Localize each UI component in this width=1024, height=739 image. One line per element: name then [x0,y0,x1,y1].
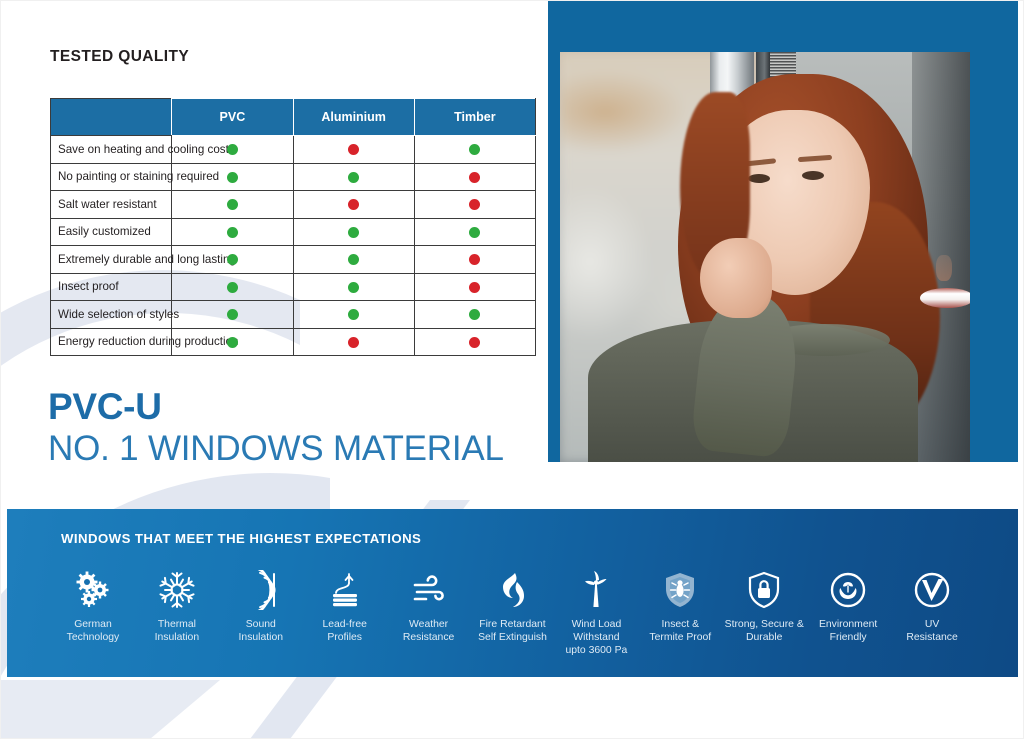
feature-caption: Sound Insulation [219,618,303,644]
page-title: TESTED QUALITY [50,48,189,66]
feature-item-8: Insect & Termite Proof [638,567,722,644]
table-header-feature [51,99,172,136]
green-dot-icon [348,172,359,183]
red-dot-icon [348,199,359,210]
feature-label: Wide selection of styles [51,301,172,329]
headline: PVC-U NO. 1 WINDOWS MATERIAL [48,388,504,466]
feature-caption: Thermal Insulation [135,618,219,644]
table-row: Insect proof [51,273,536,301]
person-smile [920,288,970,308]
feature-item-7: Wind Load Withstand upto 3600 Pa [554,567,638,657]
feature-label: Extremely durable and long lasting [51,246,172,274]
feature-item-11: UV Resistance [890,567,974,644]
table-row: No painting or staining required [51,163,536,191]
green-dot-icon [348,309,359,320]
rating-cell-timber [414,328,535,356]
feature-caption: Lead-free Profiles [303,618,387,644]
rating-cell-aluminium [293,163,414,191]
hero-photo [560,52,970,462]
green-dot-icon [227,172,238,183]
green-dot-icon [348,227,359,238]
table-body: Save on heating and cooling costsNo pain… [51,136,536,356]
feature-label: Insect proof [51,273,172,301]
feature-caption: Weather Resistance [387,618,471,644]
table-header-timber: Timber [414,99,535,136]
green-dot-icon [227,309,238,320]
feature-caption: German Technology [51,618,135,644]
rating-cell-aluminium [293,273,414,301]
rating-cell-aluminium [293,301,414,329]
green-dot-icon [469,309,480,320]
green-dot-icon [227,282,238,293]
feature-caption: Environment Friendly [806,618,890,644]
rating-cell-pvc [172,218,293,246]
green-dot-icon [227,227,238,238]
rating-cell-pvc [172,191,293,219]
feature-item-3: Sound Insulation [219,567,303,644]
rating-cell-timber [414,218,535,246]
wind-icon [387,567,471,613]
feature-item-9: Strong, Secure & Durable [722,567,806,644]
red-dot-icon [469,337,480,348]
shield-insect-icon [638,567,722,613]
green-dot-icon [348,254,359,265]
rating-cell-aluminium [293,328,414,356]
green-dot-icon [227,254,238,265]
wind-turbine-icon [554,567,638,613]
rating-cell-timber [414,246,535,274]
green-dot-icon [348,282,359,293]
features-banner: WINDOWS THAT MEET THE HIGHEST EXPECTATIO… [7,509,1018,677]
headline-line-2: NO. 1 WINDOWS MATERIAL [48,431,504,466]
red-dot-icon [469,282,480,293]
check-v-icon [890,567,974,613]
headline-line-1: PVC-U [48,388,504,425]
feature-label: Easily customized [51,218,172,246]
rating-cell-timber [414,301,535,329]
rating-cell-aluminium [293,191,414,219]
rating-cell-aluminium [293,136,414,164]
photo-panel [548,0,1018,462]
feature-caption: Strong, Secure & Durable [722,618,806,644]
feature-item-1: German Technology [51,567,135,644]
feature-item-10: Environment Friendly [806,567,890,644]
lead-free-icon [303,567,387,613]
feature-caption: Fire Retardant Self Extinguish [471,618,555,644]
table-row: Easily customized [51,218,536,246]
table-row: Wide selection of styles [51,301,536,329]
gears-icon [51,567,135,613]
table-header-row: PVC Aluminium Timber [51,99,536,136]
feature-label: Save on heating and cooling costs [51,136,172,164]
green-dot-icon [227,199,238,210]
red-dot-icon [469,199,480,210]
eco-hands-icon [806,567,890,613]
feature-label: Energy reduction during production [51,328,172,356]
green-dot-icon [227,144,238,155]
table-row: Salt water resistant [51,191,536,219]
red-dot-icon [469,254,480,265]
banner-title: WINDOWS THAT MEET THE HIGHEST EXPECTATIO… [61,531,421,546]
table-header-aluminium: Aluminium [293,99,414,136]
feature-label: Salt water resistant [51,191,172,219]
rating-cell-timber [414,191,535,219]
rating-cell-timber [414,163,535,191]
material-comparison-table: PVC Aluminium Timber Save on heating and… [50,98,536,356]
swoosh-block [0,680,220,739]
red-dot-icon [348,337,359,348]
feature-item-6: Fire Retardant Self Extinguish [471,567,555,644]
rating-cell-aluminium [293,246,414,274]
table-row: Energy reduction during production [51,328,536,356]
feature-item-4: Lead-free Profiles [303,567,387,644]
feature-caption: Wind Load Withstand upto 3600 Pa [554,618,638,657]
green-dot-icon [469,144,480,155]
feature-caption: Insect & Termite Proof [638,618,722,644]
feature-icon-row: German Technology Thermal Insulation Sou… [7,567,1018,657]
rating-cell-aluminium [293,218,414,246]
green-dot-icon [227,337,238,348]
red-dot-icon [469,172,480,183]
table-header-pvc: PVC [172,99,293,136]
flame-icon [471,567,555,613]
green-dot-icon [469,227,480,238]
feature-caption: UV Resistance [890,618,974,644]
feature-item-2: Thermal Insulation [135,567,219,644]
snowflake-icon [135,567,219,613]
feature-label: No painting or staining required [51,163,172,191]
sound-wave-icon [219,567,303,613]
table-row: Extremely durable and long lasting [51,246,536,274]
rating-cell-timber [414,273,535,301]
person-hand [700,238,772,318]
rating-cell-pvc [172,301,293,329]
feature-item-5: Weather Resistance [387,567,471,644]
shield-lock-icon [722,567,806,613]
red-dot-icon [348,144,359,155]
rating-cell-timber [414,136,535,164]
rating-cell-pvc [172,273,293,301]
table-row: Save on heating and cooling costs [51,136,536,164]
